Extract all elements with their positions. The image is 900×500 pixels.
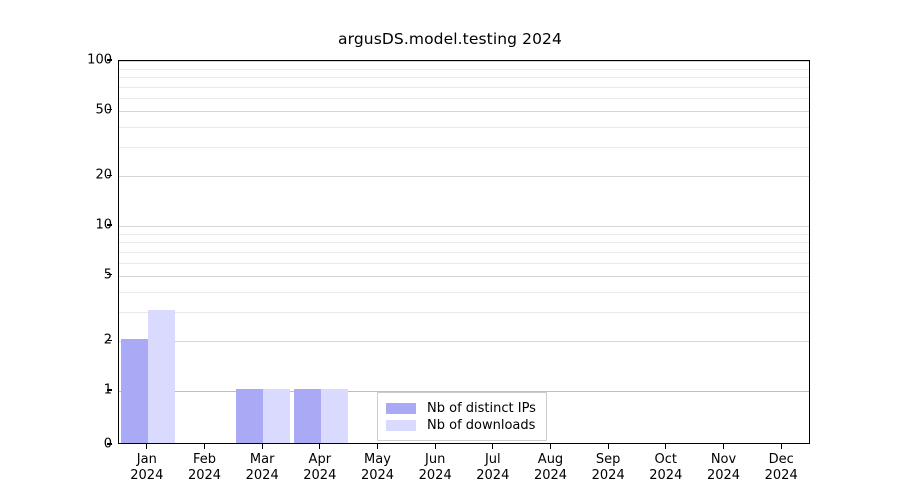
legend-label: Nb of downloads — [427, 418, 535, 433]
y-tick-label-2: 2 — [72, 334, 112, 347]
gridline-8 — [119, 242, 809, 243]
y-axis: 0125102050100 — [60, 60, 112, 444]
chart-figure: argusDS.model.testing 2024 0125102050100… — [0, 0, 900, 500]
gridline-20 — [119, 176, 809, 177]
gridline-30 — [119, 147, 809, 148]
bar-mar-downloads — [263, 389, 290, 443]
gridline-5 — [119, 276, 809, 277]
x-tick-mark-feb — [204, 444, 205, 449]
y-tick-label-5: 5 — [72, 268, 112, 281]
y-tick-mark-5 — [107, 274, 112, 275]
x-tick-label-dec: Dec2024 — [746, 452, 816, 484]
gridline-100 — [119, 61, 809, 62]
y-tick-mark-0 — [107, 443, 112, 444]
x-tick-mark-aug — [550, 444, 551, 449]
bar-apr-ips — [294, 389, 321, 443]
gridline-2 — [119, 341, 809, 342]
chart-legend: Nb of distinct IPsNb of downloads — [377, 392, 547, 441]
y-tick-label-20: 20 — [72, 169, 112, 182]
y-tick-mark-10 — [107, 224, 112, 225]
y-tick-mark-1 — [107, 389, 112, 390]
x-tick-mark-jan — [146, 444, 147, 449]
gridline-90 — [119, 69, 809, 70]
y-tick-label-10: 10 — [72, 219, 112, 232]
plot-area — [118, 60, 810, 444]
x-tick-mark-may — [377, 444, 378, 449]
legend-swatch-icon-ips — [386, 403, 416, 414]
gridline-80 — [119, 77, 809, 78]
legend-item-ips[interactable]: Nb of distinct IPs — [386, 400, 536, 416]
x-tick-mark-jun — [435, 444, 436, 449]
x-tick-mark-oct — [665, 444, 666, 449]
gridline-40 — [119, 127, 809, 128]
gridline-4 — [119, 292, 809, 293]
page-title: argusDS.model.testing 2024 — [0, 30, 900, 48]
legend-label: Nb of distinct IPs — [427, 401, 536, 416]
x-tick-mark-sep — [608, 444, 609, 449]
x-axis: Jan2024Feb2024Mar2024Apr2024May2024Jun20… — [118, 444, 810, 496]
bar-jan-downloads — [148, 310, 175, 443]
y-tick-mark-2 — [107, 340, 112, 341]
y-tick-label-0: 0 — [72, 438, 112, 451]
gridline-6 — [119, 263, 809, 264]
gridline-50 — [119, 111, 809, 112]
x-tick-mark-mar — [262, 444, 263, 449]
gridline-3 — [119, 312, 809, 313]
x-tick-mark-apr — [319, 444, 320, 449]
y-tick-label-100: 100 — [72, 54, 112, 67]
x-tick-mark-dec — [781, 444, 782, 449]
gridline-60 — [119, 98, 809, 99]
bar-apr-downloads — [321, 389, 348, 443]
x-tick-mark-nov — [723, 444, 724, 449]
gridline-10 — [119, 226, 809, 227]
gridline-9 — [119, 234, 809, 235]
y-tick-label-1: 1 — [72, 384, 112, 397]
gridline-70 — [119, 87, 809, 88]
bar-jan-ips — [121, 339, 148, 443]
y-tick-mark-50 — [107, 109, 112, 110]
x-tick-mark-jul — [492, 444, 493, 449]
y-tick-label-50: 50 — [72, 103, 112, 116]
y-tick-mark-100 — [107, 59, 112, 60]
y-tick-mark-20 — [107, 175, 112, 176]
bar-mar-ips — [236, 389, 263, 443]
legend-item-dls[interactable]: Nb of downloads — [386, 417, 536, 433]
legend-swatch-icon-dls — [386, 420, 416, 431]
gridline-7 — [119, 252, 809, 253]
